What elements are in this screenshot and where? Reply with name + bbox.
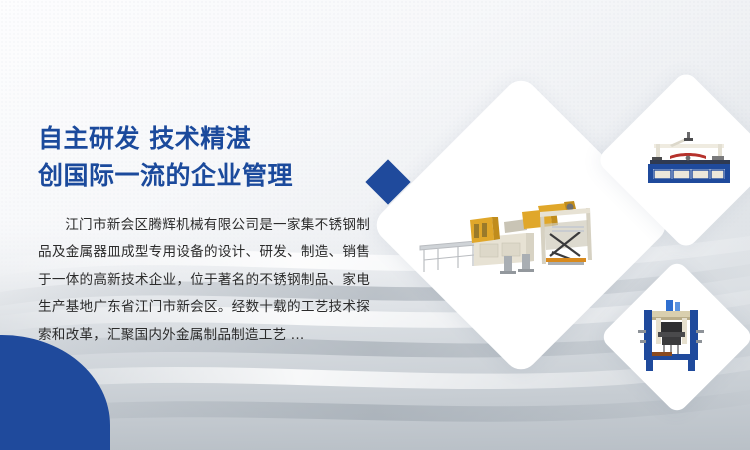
production-line-machine-photo (418, 200, 603, 278)
welding-table-machine-photo (640, 128, 736, 184)
headline-line-2: 创国际一流的企业管理 (38, 157, 378, 194)
headline-line-1: 自主研发 技术精湛 (38, 120, 378, 157)
text-column: 自主研发 技术精湛 创国际一流的企业管理 江门市新会区腾辉机械有限公司是一家集不… (38, 120, 378, 363)
company-intro-banner: 自主研发 技术精湛 创国际一流的企业管理 江门市新会区腾辉机械有限公司是一家集不… (0, 0, 750, 450)
hydraulic-press-machine-photo (638, 300, 704, 372)
company-description-paragraph: 江门市新会区腾辉机械有限公司是一家集不锈钢制品及金属器皿成型专用设备的设计、研发… (38, 212, 370, 349)
